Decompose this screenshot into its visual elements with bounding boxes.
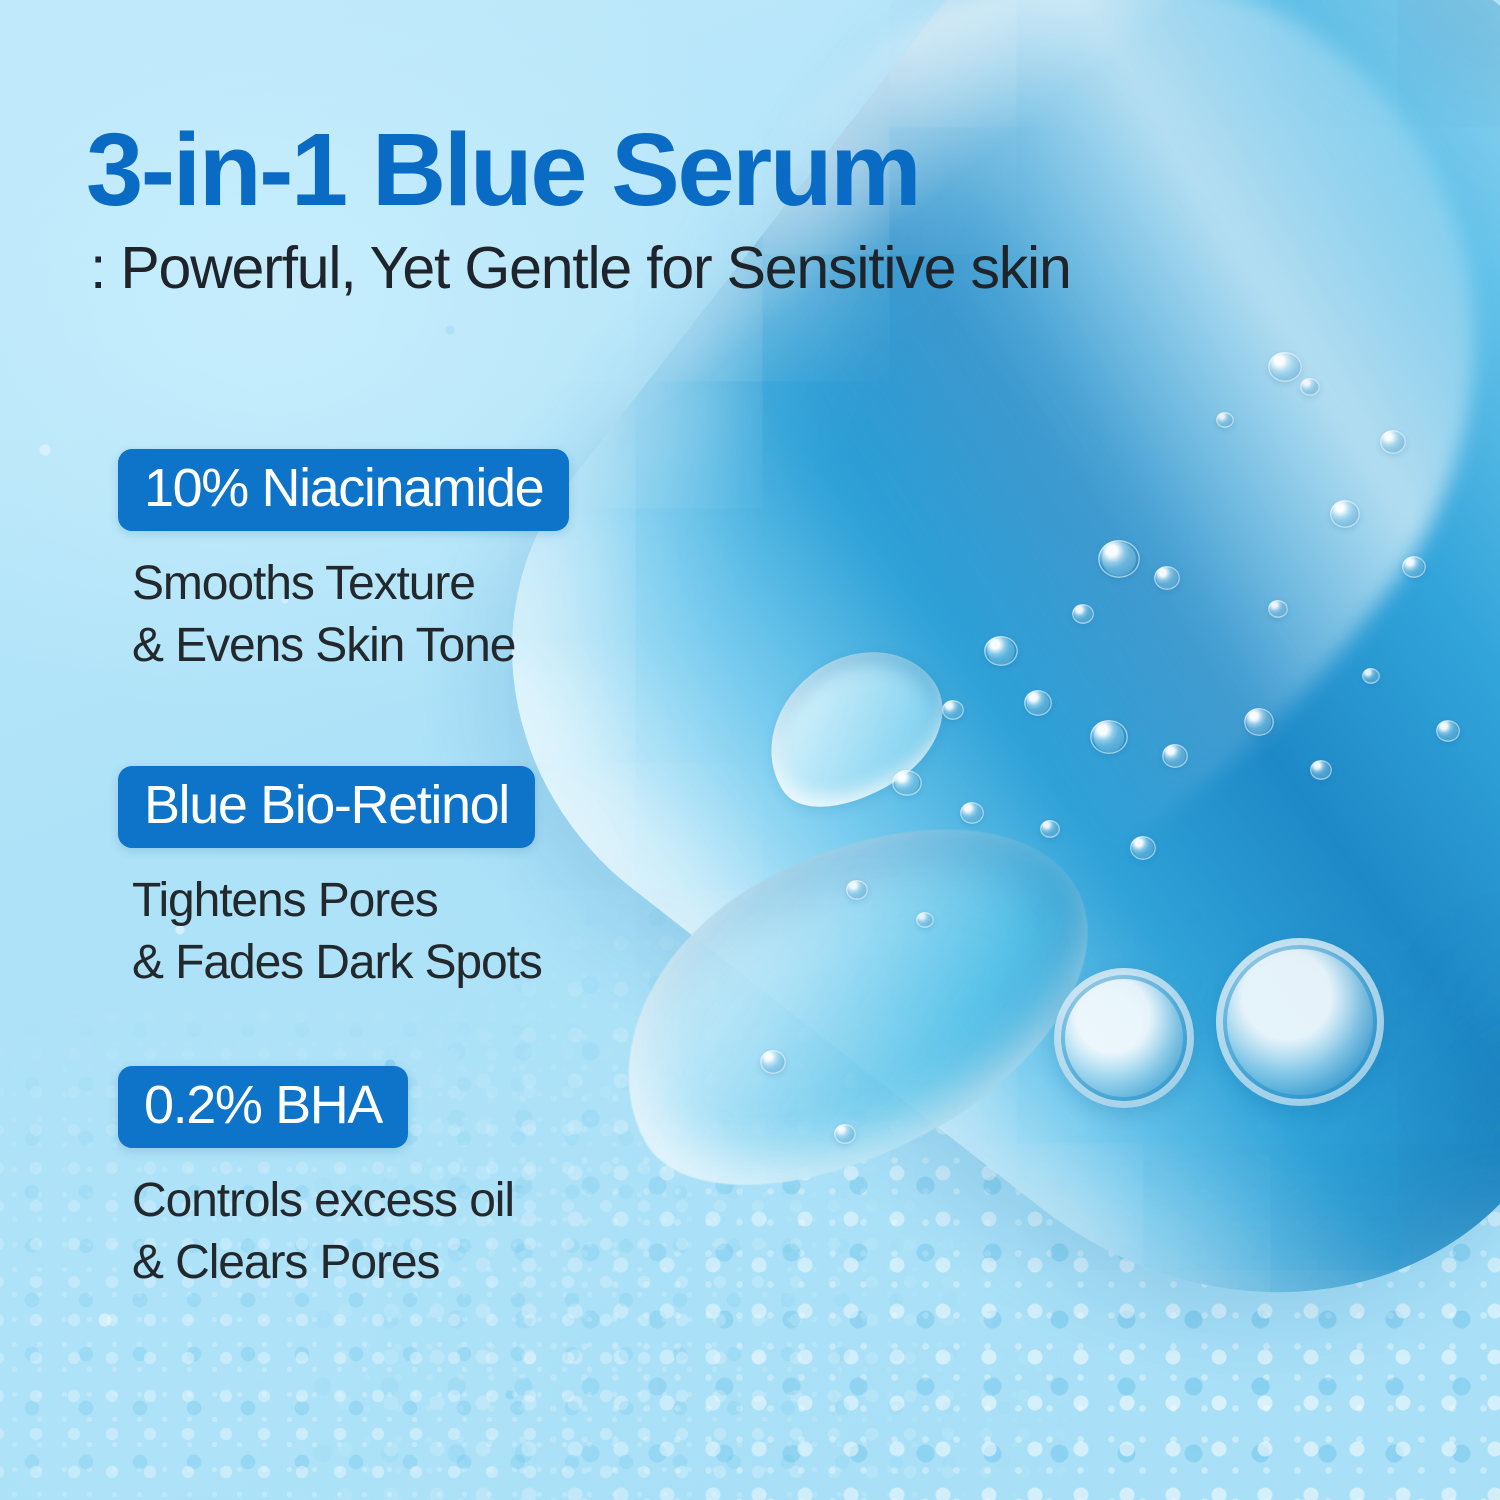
page-title: 3-in-1 Blue Serum xyxy=(86,118,919,221)
poster-content: 3-in-1 Blue Serum : Powerful, Yet Gentle… xyxy=(0,0,1500,1500)
ingredient-badge: 10% Niacinamide xyxy=(118,449,569,531)
feature-block-bha: 0.2% BHA Controls excess oil & Clears Po… xyxy=(0,1066,514,1295)
feature-block-blue-bio-retinol: Blue Bio-Retinol Tightens Pores & Fades … xyxy=(0,766,542,995)
feature-description: Smooths Texture & Evens Skin Tone xyxy=(132,553,569,678)
feature-description-line: Smooths Texture xyxy=(132,553,569,615)
feature-block-niacinamide: 10% Niacinamide Smooths Texture & Evens … xyxy=(0,449,569,678)
feature-description: Controls excess oil & Clears Pores xyxy=(132,1170,514,1295)
ingredient-badge: 0.2% BHA xyxy=(118,1066,408,1148)
page-subtitle: : Powerful, Yet Gentle for Sensitive ski… xyxy=(90,238,1071,300)
ingredient-badge: Blue Bio-Retinol xyxy=(118,766,535,848)
feature-description: Tightens Pores & Fades Dark Spots xyxy=(132,870,542,995)
feature-description-line: & Evens Skin Tone xyxy=(132,615,569,677)
feature-description-line: Tightens Pores xyxy=(132,870,542,932)
product-poster: 3-in-1 Blue Serum : Powerful, Yet Gentle… xyxy=(0,0,1500,1500)
feature-description-line: Controls excess oil xyxy=(132,1170,514,1232)
feature-description-line: & Clears Pores xyxy=(132,1232,514,1294)
feature-description-line: & Fades Dark Spots xyxy=(132,932,542,994)
